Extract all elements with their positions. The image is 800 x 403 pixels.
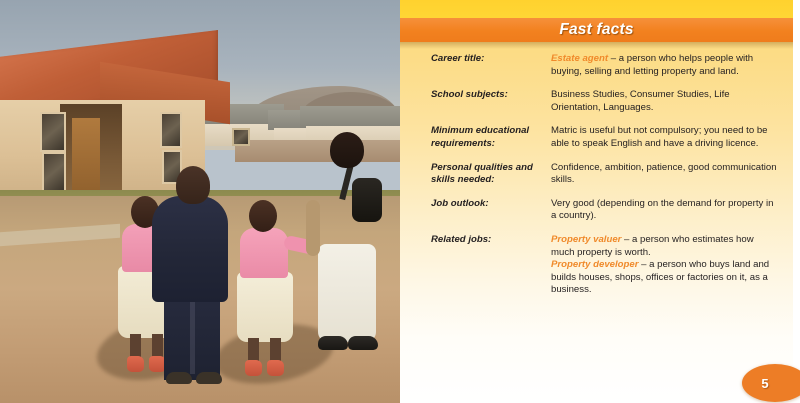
fast-facts-panel: Fast facts Career title:Estate agent – a… [400, 0, 800, 403]
photo-child-right-boot-2 [267, 360, 284, 376]
fact-row-career-title: Career title:Estate agent – a person who… [431, 53, 779, 78]
photo-man-torso [152, 196, 228, 302]
related-job-highlight-property-valuer: Property valuer [551, 234, 621, 245]
photo-child-right-skirt [237, 272, 293, 342]
photo-family-houses [0, 0, 400, 403]
photo-man-shoe-1 [166, 372, 192, 384]
photo-window-2 [42, 152, 66, 192]
fact-label-related-jobs: Related jobs: [431, 234, 551, 297]
fact-label-personal-qualities-and-skills-needed: Personal qualities and skills needed: [431, 162, 551, 187]
photo-man-head [176, 166, 210, 204]
photo-main-house-door [72, 118, 100, 200]
fact-value-related-jobs: Property valuer – a person who estimates… [551, 234, 779, 297]
fact-label-school-subjects: School subjects: [431, 89, 551, 114]
photo-woman-bag [352, 178, 382, 222]
photo-woman-arm [306, 200, 320, 256]
panel-right-margin [793, 0, 800, 403]
fact-label-career-title: Career title: [431, 53, 551, 78]
fact-value-school-subjects: Business Studies, Consumer Studies, Life… [551, 89, 779, 114]
photo-woman-trousers [318, 244, 376, 342]
photo-child-left-boot-1 [127, 356, 144, 372]
fact-label-minimum-educational-requirements: Minimum educational requirements: [431, 125, 551, 150]
banner-shadow [400, 42, 800, 49]
fact-row-personal-qualities-and-skills-needed: Personal qualities and skills needed:Con… [431, 162, 779, 187]
fact-row-minimum-educational-requirements: Minimum educational requirements:Matric … [431, 125, 779, 150]
page-number-label: 5 [742, 364, 788, 402]
photo-window-1 [40, 112, 66, 152]
photo-woman-shoe-1 [318, 336, 348, 350]
photo-man-shoe-2 [196, 372, 222, 384]
page-root: Fast facts Career title:Estate agent – a… [0, 0, 800, 403]
fact-value-career-title: Estate agent – a person who helps people… [551, 53, 779, 78]
fact-label-job-outlook: Job outlook: [431, 198, 551, 223]
fast-facts-title: Fast facts [400, 18, 793, 42]
photo-window-5 [232, 128, 250, 146]
photo-child-right-top [240, 228, 288, 278]
photo-man-leg-gap [190, 300, 195, 374]
fact-row-related-jobs: Related jobs:Property valuer – a person … [431, 234, 779, 297]
facts-list: Career title:Estate agent – a person who… [431, 53, 779, 308]
photo-window-3 [160, 112, 182, 148]
photo-far-house-roof-3 [300, 106, 400, 128]
photo-child-right-head [249, 200, 277, 232]
fact-value-personal-qualities-and-skills-needed: Confidence, ambition, patience, good com… [551, 162, 779, 187]
photo-woman-shoe-2 [348, 336, 378, 350]
fact-row-school-subjects: School subjects:Business Studies, Consum… [431, 89, 779, 114]
photo-woman-head [330, 132, 364, 168]
fact-row-job-outlook: Job outlook:Very good (depending on the … [431, 198, 779, 223]
fact-highlight-estate-agent: Estate agent [551, 53, 608, 64]
related-job-highlight-property-developer: Property developer [551, 259, 638, 270]
photo-boundary-wall [235, 140, 400, 162]
top-yellow-strip [400, 0, 800, 18]
fact-value-minimum-educational-requirements: Matric is useful but not compulsory; you… [551, 125, 779, 150]
fact-value-job-outlook: Very good (depending on the demand for p… [551, 198, 779, 223]
photo-child-right-boot-1 [245, 360, 262, 376]
